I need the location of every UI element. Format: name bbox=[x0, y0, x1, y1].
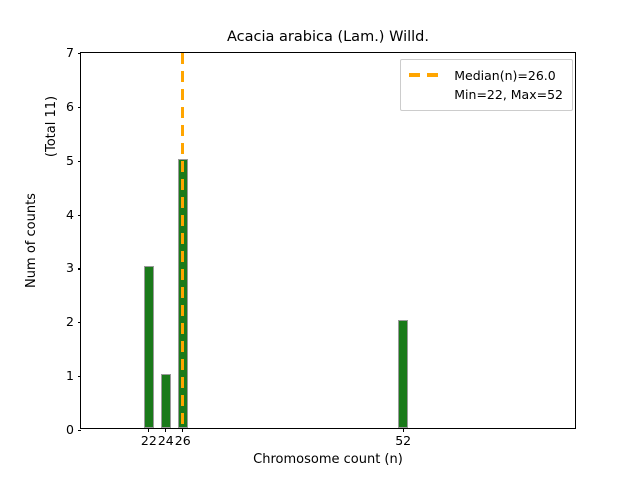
y-tick-mark bbox=[78, 268, 82, 269]
legend-entry-label: Median(n)=26.0 bbox=[454, 66, 555, 85]
y-tick-label: 7 bbox=[66, 47, 74, 60]
median-line bbox=[181, 53, 184, 428]
y-tick-label: 6 bbox=[66, 101, 74, 114]
y-tick-label: 4 bbox=[66, 208, 74, 221]
x-tick-mark bbox=[403, 428, 404, 432]
x-tick-label: 24 bbox=[158, 434, 174, 447]
y-tick-mark bbox=[78, 215, 82, 216]
y-tick-mark bbox=[78, 376, 82, 377]
x-axis-label: Chromosome count (n) bbox=[80, 452, 576, 467]
legend-entry-minmax: Min=22, Max=52 bbox=[409, 85, 563, 104]
legend-entry-label: Min=22, Max=52 bbox=[454, 85, 563, 104]
x-tick-mark bbox=[182, 428, 183, 432]
x-tick-mark bbox=[165, 428, 166, 432]
y-tick-mark bbox=[78, 430, 82, 431]
x-tick-label: 22 bbox=[141, 434, 157, 447]
y-tick-mark bbox=[78, 161, 82, 162]
bar bbox=[398, 320, 408, 428]
y-axis-total-label-text: (Total 11) bbox=[45, 96, 60, 157]
legend-entry-median: Median(n)=26.0 bbox=[409, 66, 563, 85]
plot-area: 01234567 22242652 Median(n)=26.0 Min=22,… bbox=[80, 52, 576, 429]
chart-figure: Acacia arabica (Lam.) Willd. Num of coun… bbox=[0, 0, 640, 480]
x-tick-mark bbox=[148, 428, 149, 432]
bar bbox=[144, 266, 154, 428]
y-tick-mark bbox=[78, 107, 82, 108]
y-axis-total-label: (Total 11) bbox=[44, 52, 60, 429]
y-tick-label: 3 bbox=[66, 262, 74, 275]
chart-title: Acacia arabica (Lam.) Willd. bbox=[80, 28, 576, 46]
median-dashed-line-icon bbox=[409, 66, 445, 85]
legend-blank-icon bbox=[409, 85, 445, 104]
y-tick-label: 5 bbox=[66, 154, 74, 167]
y-tick-label: 2 bbox=[66, 316, 74, 329]
y-tick-label: 0 bbox=[66, 424, 74, 437]
y-axis-label-text: Num of counts bbox=[24, 193, 39, 288]
bar bbox=[161, 374, 171, 428]
y-tick-mark bbox=[78, 53, 82, 54]
y-axis-label: Num of counts bbox=[23, 52, 39, 429]
x-tick-label: 52 bbox=[395, 434, 411, 447]
legend: Median(n)=26.0 Min=22, Max=52 bbox=[400, 59, 573, 111]
y-tick-mark bbox=[78, 322, 82, 323]
x-tick-label: 26 bbox=[175, 434, 191, 447]
y-tick-label: 1 bbox=[66, 370, 74, 383]
